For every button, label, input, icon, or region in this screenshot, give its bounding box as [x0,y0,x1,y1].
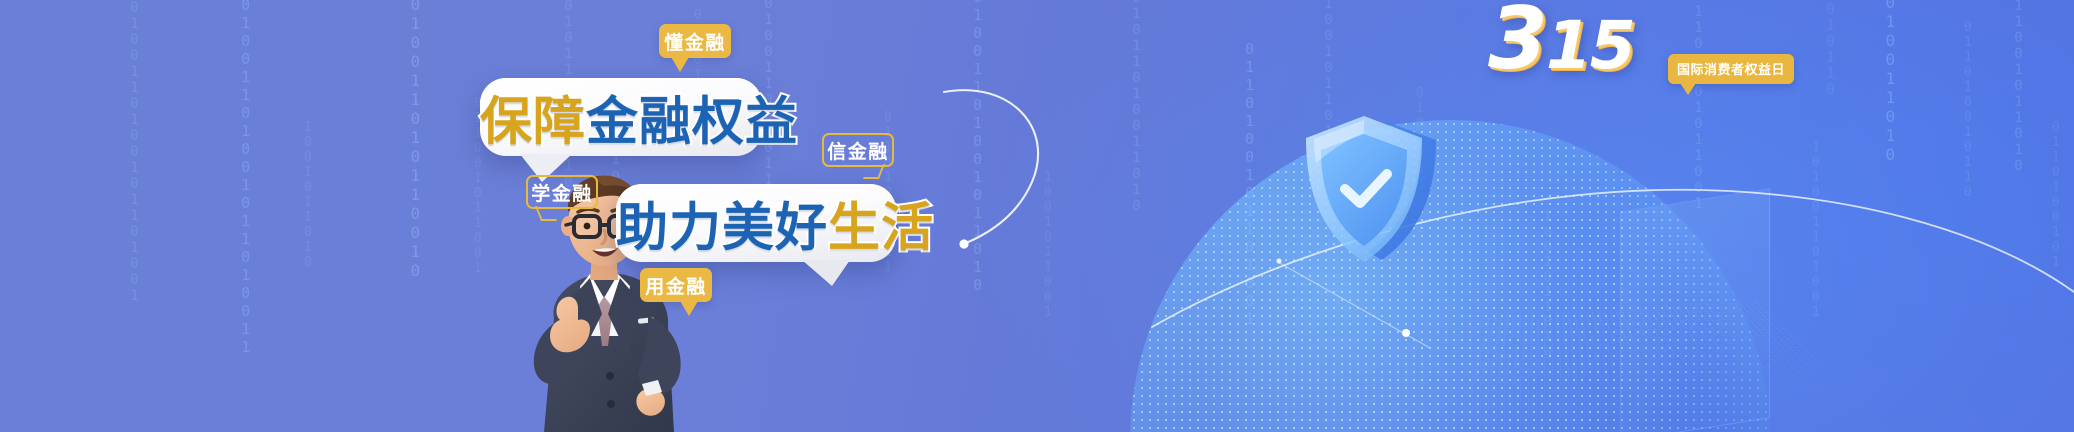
ribbon-tail [1680,83,1696,95]
headline-secondary-segment-blue: 助力美好 [616,199,828,259]
logo-315: 315 [1488,0,1634,82]
logo-digit-3: 3 [1488,0,1546,89]
logo-315-number: 315 [1488,0,1634,82]
headline-secondary-text: 助力美好生活 [616,186,896,261]
tag-tail [680,301,698,316]
headline-primary-text: 保障金融权益 [480,80,762,155]
promo-banner: 1010011010010110100101010011010010110100… [0,0,2074,432]
tag-tail [671,57,689,72]
logo-ribbon-label: 国际消费者权益日 [1668,54,1794,84]
headline-bubble-secondary: 助力美好生活 [616,184,896,262]
binary-column: 0110100101101001 [1240,40,1258,328]
tag-tail [535,206,557,221]
dot-grid-plate [1455,301,1862,432]
headline-secondary-segment-gold: 生活 [828,199,934,259]
bubble-tail [802,260,850,286]
binary-column: 01101001011001 [1690,0,1707,212]
tag-label: 信金融 [827,137,889,164]
tag-xin-jinrong: 信金融 [822,133,894,167]
logo-ribbon-text: 国际消费者权益日 [1677,63,1785,78]
shield-check-icon [1290,100,1460,280]
binary-column: 0101101001 [1412,86,1427,236]
binary-column: 1001011010 [300,120,315,270]
headline-bubble-primary: 保障金融权益 [480,78,762,156]
binary-column: 0101001101001011010011 [236,0,254,356]
tag-xue-jinrong: 学金融 [526,175,598,209]
binary-column: 1011001011010 [2010,0,2027,174]
binary-column: 1001011001 [1040,170,1055,320]
tag-yong-jinrong: 用金融 [640,268,712,302]
binary-column: 101001011010 [1320,0,1337,156]
binary-column: 011010010110 [1960,20,1975,200]
tag-dong-jinrong: 懂金融 [659,24,731,58]
binary-column: 01011010011010 [1128,0,1145,214]
tag-label: 懂金融 [664,28,726,55]
headline-primary-segment-gold: 保障 [480,93,586,153]
tag-label: 用金融 [645,272,707,299]
binary-column: 1010011010110010 [405,0,424,280]
binary-column: 101001101001011010 [968,0,986,294]
binary-column: 10100110100101101001 [126,0,143,304]
tag-tail [863,164,885,179]
glass-panel-decor [1620,188,1770,432]
logo-digit-15: 15 [1546,7,1634,84]
tag-label: 学金融 [531,179,593,206]
dotted-globe [1130,120,1770,432]
binary-column: 101001101001 [1808,140,1823,320]
binary-column: 1001011010 [1540,210,1555,360]
binary-column: 0110100101 [2048,120,2063,270]
headline-primary-segment-blue: 金融权益 [586,93,798,153]
binary-column: 10010110 [1822,0,1839,98]
binary-column: 1010011010 [1880,0,1899,164]
